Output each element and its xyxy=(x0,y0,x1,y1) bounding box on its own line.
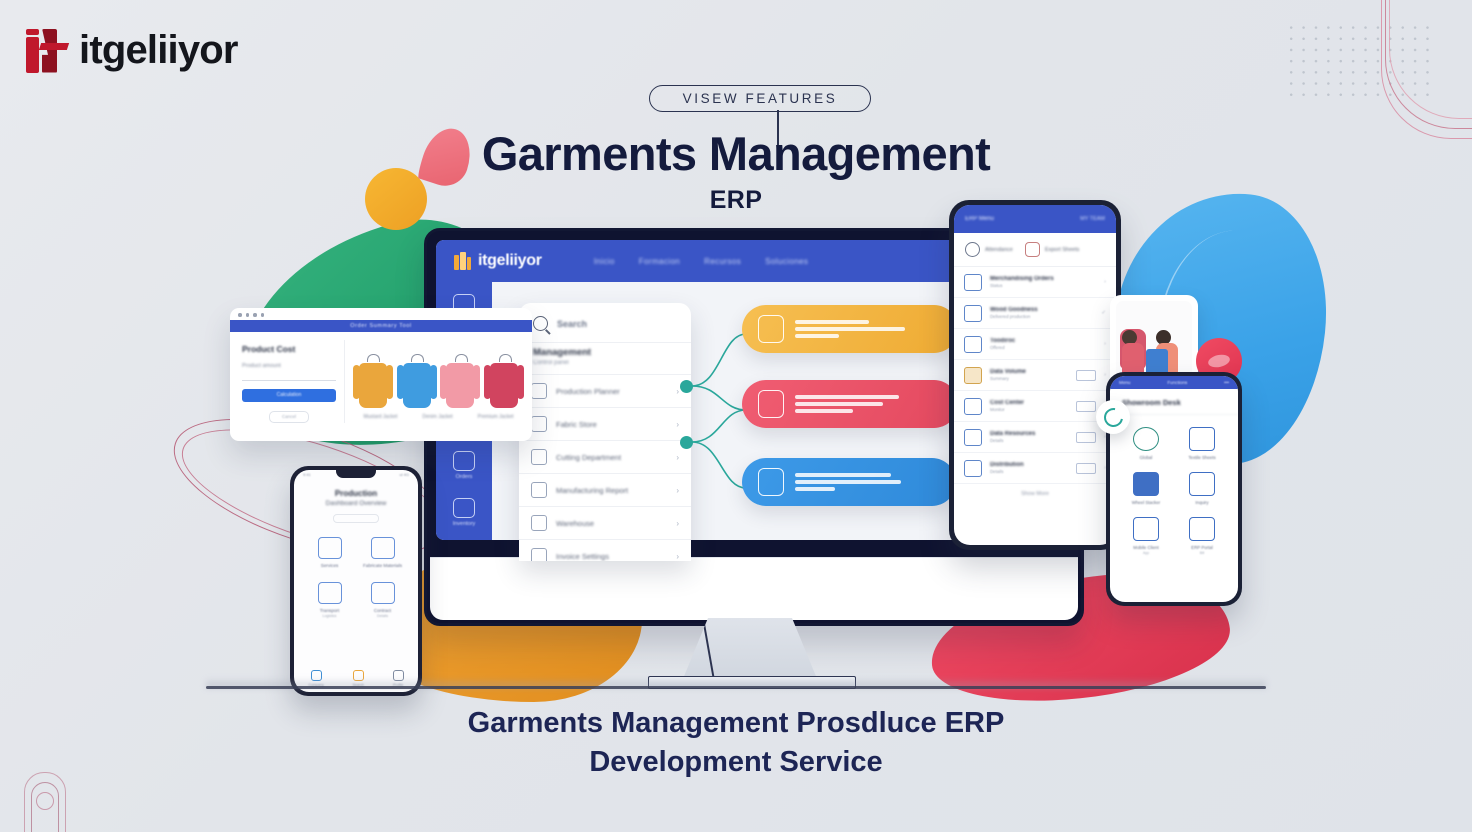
flow-connectors xyxy=(686,380,748,490)
footer-caption: Garments Management Prosdluce ERP Develo… xyxy=(0,704,1472,782)
list-item[interactable]: Cost CenterMonitor › xyxy=(954,391,1116,422)
globe-icon xyxy=(1133,427,1159,451)
brand-name: itgeliiyor xyxy=(79,28,238,73)
camera-icon xyxy=(1189,472,1215,496)
menu-header: Management Control panel xyxy=(519,342,691,374)
phone-topbar: ERP Menu MY TEAM xyxy=(954,205,1116,233)
mini-chart xyxy=(1076,432,1096,443)
status-time: 9:41 xyxy=(303,472,311,477)
caption-line-1: Garments Management Prosdluce ERP xyxy=(0,704,1472,743)
mini-chart xyxy=(1076,370,1096,381)
grid-item-label: Services xyxy=(306,563,353,568)
grid-item-label: Transport xyxy=(306,608,353,613)
phone-topbar-title: ERP Menu xyxy=(965,216,994,222)
nav-item[interactable]: Formacion xyxy=(639,257,680,266)
warehouse-icon xyxy=(531,515,547,531)
window-titlebar: Order Summary Tool xyxy=(230,320,532,332)
garment-label: Premium Jacket xyxy=(478,414,514,420)
grid-item-label: Mobile Client xyxy=(1120,545,1172,550)
garment-labels: Mustard Jacket Denim Jacket Premium Jack… xyxy=(351,414,526,420)
list-item-title: Merchandising Orders xyxy=(990,276,1096,282)
hanger-icon xyxy=(411,354,424,362)
overview-chip[interactable] xyxy=(333,514,379,523)
page-title: Garments Management xyxy=(0,128,1472,180)
hanger-icon xyxy=(367,354,380,362)
menu-item-label: Production Planner xyxy=(556,387,667,396)
tab-label: Export Sheets xyxy=(1045,247,1080,253)
grid-item[interactable]: Inquiry xyxy=(1176,472,1228,505)
list-item[interactable]: DistributionDetails › xyxy=(954,453,1116,484)
grid-item[interactable]: Services xyxy=(306,537,353,568)
mini-chart xyxy=(1076,401,1096,412)
check-icon: ✓ xyxy=(1101,310,1106,316)
chevron-right-icon: › xyxy=(1104,279,1106,285)
field-label: Product amount xyxy=(242,363,336,369)
grid-icon xyxy=(964,460,982,477)
package-icon xyxy=(964,367,982,384)
garment-label: Mustard Jacket xyxy=(363,414,397,420)
feature-pill-machinery[interactable] xyxy=(742,380,958,428)
phone-subtitle: Dashboard Overview xyxy=(294,500,418,507)
ground-line xyxy=(206,686,1266,689)
calculation-button-label: Calculation xyxy=(277,392,302,398)
status-signal: ul 4G xyxy=(399,472,409,477)
feature-pill-text xyxy=(795,395,899,413)
menu-item[interactable]: Manufacturing Report › xyxy=(519,473,691,506)
chevron-right-icon: › xyxy=(676,552,679,561)
calendar-icon xyxy=(964,274,982,291)
menu-item-label: Warehouse xyxy=(556,519,667,528)
list-item-title: Cost Center xyxy=(990,400,1068,406)
grid-item[interactable]: Wheel Stacker xyxy=(1120,472,1172,505)
page-subtitle: ERP xyxy=(0,186,1472,215)
sidebar-item-orders[interactable]: Orders xyxy=(436,451,492,480)
product-browser-card: Order Summary Tool Product Cost Product … xyxy=(230,308,532,441)
grid-item-label: Wheel Stacker xyxy=(1120,500,1172,505)
hanger-icon xyxy=(499,354,512,362)
menu-item-label: Invoice Settings xyxy=(556,552,667,561)
cancel-button[interactable]: Cancel xyxy=(269,411,309,423)
sidebar-item-inventory[interactable]: Inventory xyxy=(436,498,492,527)
grid-item-label: Fabricate Materials xyxy=(359,563,406,568)
grid-item-sub: App xyxy=(1120,551,1172,555)
cost-form-panel: Product Cost Product amount Calculation … xyxy=(230,340,344,423)
nav-item[interactable]: Recursos xyxy=(704,257,741,266)
phone-topbar-back[interactable]: Menu xyxy=(1119,380,1131,385)
factory-icon xyxy=(964,305,982,322)
photo-frame xyxy=(1116,301,1192,381)
tab-label: Attendance xyxy=(985,247,1013,253)
orders-icon xyxy=(453,451,475,471)
feature-pill-production[interactable] xyxy=(742,305,958,353)
list-item-sub: Details xyxy=(990,469,1068,474)
grid-item[interactable]: Global xyxy=(1120,427,1172,460)
clock-icon xyxy=(965,242,980,257)
chevron-right-icon: › xyxy=(676,453,679,462)
list-item-title: Data Resources xyxy=(990,431,1068,437)
caption-line-2: Development Service xyxy=(0,743,1472,782)
it-logo-icon xyxy=(454,252,471,270)
menu-item-label: Manufacturing Report xyxy=(556,486,667,495)
grid-item[interactable]: ERP Portal Bill xyxy=(1176,517,1228,555)
menu-panel-card: Search Management Control panel Producti… xyxy=(519,303,691,561)
menu-item[interactable]: Cutting Department › xyxy=(519,440,691,473)
search-field[interactable]: Search xyxy=(519,303,691,342)
connector-dot xyxy=(680,380,693,393)
map-icon xyxy=(318,582,342,604)
phone-screen: ERP Menu MY TEAM Attendance Export Sheet… xyxy=(954,205,1116,545)
it-logo-icon xyxy=(26,29,68,73)
phone-topbar: Menu Functions ••• xyxy=(1110,376,1238,389)
grid-item-label: ERP Portal xyxy=(1176,545,1228,550)
panel-title: Product Cost xyxy=(242,344,336,354)
bottom-arc-dot-decoration xyxy=(36,792,54,810)
phone-title: Production xyxy=(294,489,418,498)
list-item-title: Wood Goodness xyxy=(990,307,1093,313)
list-item-sub: Delivered production xyxy=(990,314,1093,319)
grid-item[interactable]: Contract Details xyxy=(359,582,406,618)
phone-topbar-action[interactable]: MY TEAM xyxy=(1080,216,1105,222)
machine-icon xyxy=(758,390,784,418)
refresh-icon xyxy=(1100,404,1126,430)
window-title: Order Summary Tool xyxy=(350,323,411,329)
textile-icon xyxy=(1189,427,1215,451)
feature-grid: Services Fabricate Materials Transport L… xyxy=(294,523,418,618)
phone-screen: 9:41 ul 4G Production Dashboard Overview… xyxy=(294,470,418,692)
garment-item[interactable] xyxy=(486,354,522,410)
report-icon xyxy=(531,482,547,498)
view-features-label: VISEW FEATURES xyxy=(683,91,838,106)
list-item-sub: Status xyxy=(990,283,1096,288)
grid-item[interactable]: Mobile Client App xyxy=(1120,517,1172,555)
phone-tabs: Attendance Export Sheets xyxy=(954,233,1116,267)
list-item[interactable]: Merchandising OrdersStatus › xyxy=(954,267,1116,298)
list-item[interactable]: Data ResourcesDetails › xyxy=(954,422,1116,453)
list-item-sub: Details xyxy=(990,438,1068,443)
table-icon xyxy=(964,398,982,415)
garment-item[interactable] xyxy=(442,354,478,410)
brand-logo[interactable]: itgeliiyor xyxy=(26,28,238,73)
lock-icon xyxy=(371,537,395,559)
search-icon xyxy=(533,316,548,331)
calculation-button[interactable]: Calculation xyxy=(242,389,336,402)
list-item-title: Toodiroc xyxy=(990,338,1096,344)
chevron-right-icon: › xyxy=(676,420,679,429)
show-more-link[interactable]: Show More xyxy=(954,484,1116,504)
menu-header-title: Management xyxy=(533,347,677,358)
status-bar: 9:41 ul 4G xyxy=(294,470,418,477)
grid-item-sub: Logistics xyxy=(306,614,353,618)
hero-heading: Garments Management ERP xyxy=(0,128,1472,215)
garment-item[interactable] xyxy=(355,354,391,410)
grid-item-label: Contract xyxy=(359,608,406,613)
menu-item[interactable]: Production Planner › xyxy=(519,374,691,407)
invoice-icon xyxy=(531,548,547,561)
window-controls xyxy=(230,308,532,320)
image-icon xyxy=(1025,242,1040,257)
hanger-icon xyxy=(455,354,468,362)
app-nav: Inicio Formacion Recursos Soluciones xyxy=(594,257,809,266)
view-features-badge[interactable]: VISEW FEATURES xyxy=(649,85,871,112)
person-illustration xyxy=(1122,330,1144,377)
sidebar-item-label: Inventory xyxy=(453,521,476,527)
store-icon xyxy=(964,336,982,353)
grid-item-label: Textile Sheets xyxy=(1176,455,1228,460)
list-item-sub: Offered xyxy=(990,345,1096,350)
phone-header: Production Dashboard Overview xyxy=(294,489,418,507)
garment-list xyxy=(351,344,526,410)
menu-item[interactable]: Invoice Settings › xyxy=(519,539,691,561)
amount-input[interactable] xyxy=(242,372,336,381)
phone-topbar-title: Functions xyxy=(1167,380,1187,385)
building-icon xyxy=(964,429,982,446)
calendar-icon xyxy=(758,468,784,496)
function-grid: Global Textile Sheets Wheel Stacker Inqu… xyxy=(1110,415,1238,555)
search-placeholder: Search xyxy=(557,319,587,329)
garment-label: Denim Jacket xyxy=(422,414,452,420)
list-item[interactable]: Data VolumeSummary › xyxy=(954,360,1116,391)
grid-item-label: Inquiry xyxy=(1176,500,1228,505)
feature-pill-text xyxy=(795,473,901,491)
grid-item-sub: Details xyxy=(359,614,406,618)
garment-item[interactable] xyxy=(399,354,435,410)
fabric-icon xyxy=(531,416,547,432)
sidebar-item-label: Orders xyxy=(456,474,473,480)
menu-item[interactable]: Warehouse › xyxy=(519,506,691,539)
inventory-icon xyxy=(453,498,475,518)
menu-item-label: Cutting Department xyxy=(556,453,667,462)
phone-mockup-tall: ERP Menu MY TEAM Attendance Export Sheet… xyxy=(949,200,1121,550)
grid-item-label: Global xyxy=(1120,455,1172,460)
phone-mockup-left: 9:41 ul 4G Production Dashboard Overview… xyxy=(290,466,422,696)
list-item-title: Data Volume xyxy=(990,369,1068,375)
production-icon xyxy=(531,383,547,399)
app-logo-text: itgeliiyor xyxy=(478,252,542,270)
tab-attendance[interactable]: Attendance xyxy=(965,242,1013,257)
list-item-sub: Summary xyxy=(990,376,1068,381)
product-card-body: Product Cost Product amount Calculation … xyxy=(230,332,532,423)
nav-item[interactable]: Soluciones xyxy=(765,257,808,266)
grid-item-sub: Bill xyxy=(1176,551,1228,555)
phone-topbar-more[interactable]: ••• xyxy=(1224,380,1229,385)
chevron-right-icon: › xyxy=(1104,372,1106,378)
chevron-right-icon: › xyxy=(676,486,679,495)
garment-gallery: Mustard Jacket Denim Jacket Premium Jack… xyxy=(344,340,532,423)
menu-item-label: Fabric Store xyxy=(556,420,667,429)
grid-item[interactable]: Transport Logistics xyxy=(306,582,353,618)
doc-icon xyxy=(371,582,395,604)
list-item-sub: Monitor xyxy=(990,407,1068,412)
monitor-chin xyxy=(430,557,1078,620)
menu-header-sub: Control panel xyxy=(533,360,677,366)
list-item[interactable]: ToodirocOffered › xyxy=(954,329,1116,360)
tab-export-sheets[interactable]: Export Sheets xyxy=(1025,242,1080,257)
invoice-icon xyxy=(1189,517,1215,541)
nav-item[interactable]: Inicio xyxy=(594,257,615,266)
grid-item[interactable]: Fabricate Materials xyxy=(359,537,406,568)
poster-canvas: itgeliiyor VISEW FEATURES Garments Manag… xyxy=(0,0,1472,832)
app-logo[interactable]: itgeliiyor xyxy=(454,252,542,270)
chevron-right-icon: › xyxy=(676,387,679,396)
list-item[interactable]: Wood GoodnessDelivered production ✓ xyxy=(954,298,1116,329)
refresh-badge[interactable] xyxy=(1096,400,1130,434)
shirt-icon xyxy=(758,315,784,343)
cutting-icon xyxy=(531,449,547,465)
list-item-title: Distribution xyxy=(990,462,1068,468)
machine-icon xyxy=(1133,472,1159,496)
menu-item[interactable]: Fabric Store › xyxy=(519,407,691,440)
grid-item[interactable]: Textile Sheets xyxy=(1176,427,1228,460)
chevron-right-icon: › xyxy=(676,519,679,528)
connector-dot xyxy=(680,436,693,449)
feature-pill-scheduling[interactable] xyxy=(742,458,956,506)
feature-pill-text xyxy=(795,320,905,338)
phone-screen: Menu Functions ••• Showroom Desk Global … xyxy=(1110,376,1238,602)
cancel-button-label: Cancel xyxy=(282,414,296,419)
mini-chart xyxy=(1076,463,1096,474)
chevron-right-icon: › xyxy=(1104,341,1106,347)
chart-icon xyxy=(318,537,342,559)
mobile-icon xyxy=(1133,517,1159,541)
